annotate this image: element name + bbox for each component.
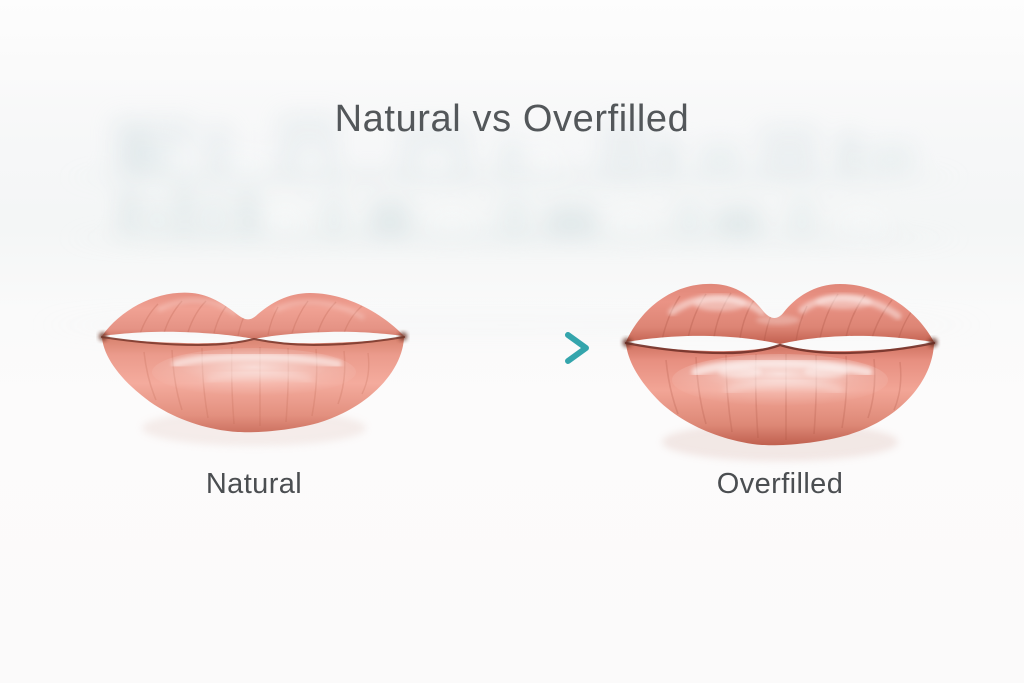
- transition-arrow: [450, 328, 598, 368]
- label-overfilled: Overfilled: [612, 468, 948, 501]
- bottle-silhouette: [790, 199, 814, 235]
- lower-lip: [626, 344, 934, 445]
- bottle-silhouette: [716, 207, 760, 235]
- lip-corner-right: [399, 332, 407, 340]
- shelf-line-lower: [60, 235, 969, 240]
- bottle-silhouette: [430, 209, 474, 235]
- bottle-silhouette: [868, 143, 914, 173]
- label-natural: Natural: [88, 468, 420, 501]
- bottle-silhouette: [238, 191, 258, 235]
- bottle-silhouette: [838, 209, 886, 235]
- bottle-silhouette: [500, 139, 522, 173]
- lips-illustration-overfilled: [612, 268, 948, 454]
- bottle-silhouette: [152, 139, 166, 173]
- bottle-silhouette: [500, 197, 530, 235]
- comparison-infographic: Natural vs Overfilled: [0, 0, 1024, 683]
- bottle-silhouette: [700, 143, 740, 173]
- bottle-silhouette: [146, 199, 168, 235]
- bottle-silhouette: [172, 147, 192, 173]
- lips-illustration-natural: [88, 268, 420, 448]
- bottle-silhouette: [370, 201, 410, 235]
- lip-corner-left: [99, 332, 107, 340]
- bottle-silhouette: [176, 185, 192, 235]
- lip-corner-left: [623, 338, 632, 347]
- bottle-silhouette: [268, 205, 302, 235]
- page-title: Natural vs Overfilled: [0, 98, 1024, 141]
- lower-lip: [102, 338, 404, 432]
- bottle-silhouette: [612, 211, 652, 235]
- bottle-silhouette: [418, 151, 452, 173]
- bottle-silhouette: [120, 189, 138, 235]
- upper-lip: [626, 284, 934, 344]
- bottle-silhouette: [660, 137, 676, 173]
- bottle-silhouette: [300, 149, 322, 173]
- bottle-silhouette: [322, 195, 346, 235]
- upper-lip: [102, 293, 404, 339]
- shelf-line-upper: [60, 175, 969, 180]
- bottle-silhouette: [676, 201, 702, 235]
- bottle-silhouette: [530, 147, 558, 173]
- bottle-silhouette: [546, 205, 596, 235]
- lip-corner-right: [929, 338, 938, 347]
- bottle-silhouette: [200, 195, 228, 235]
